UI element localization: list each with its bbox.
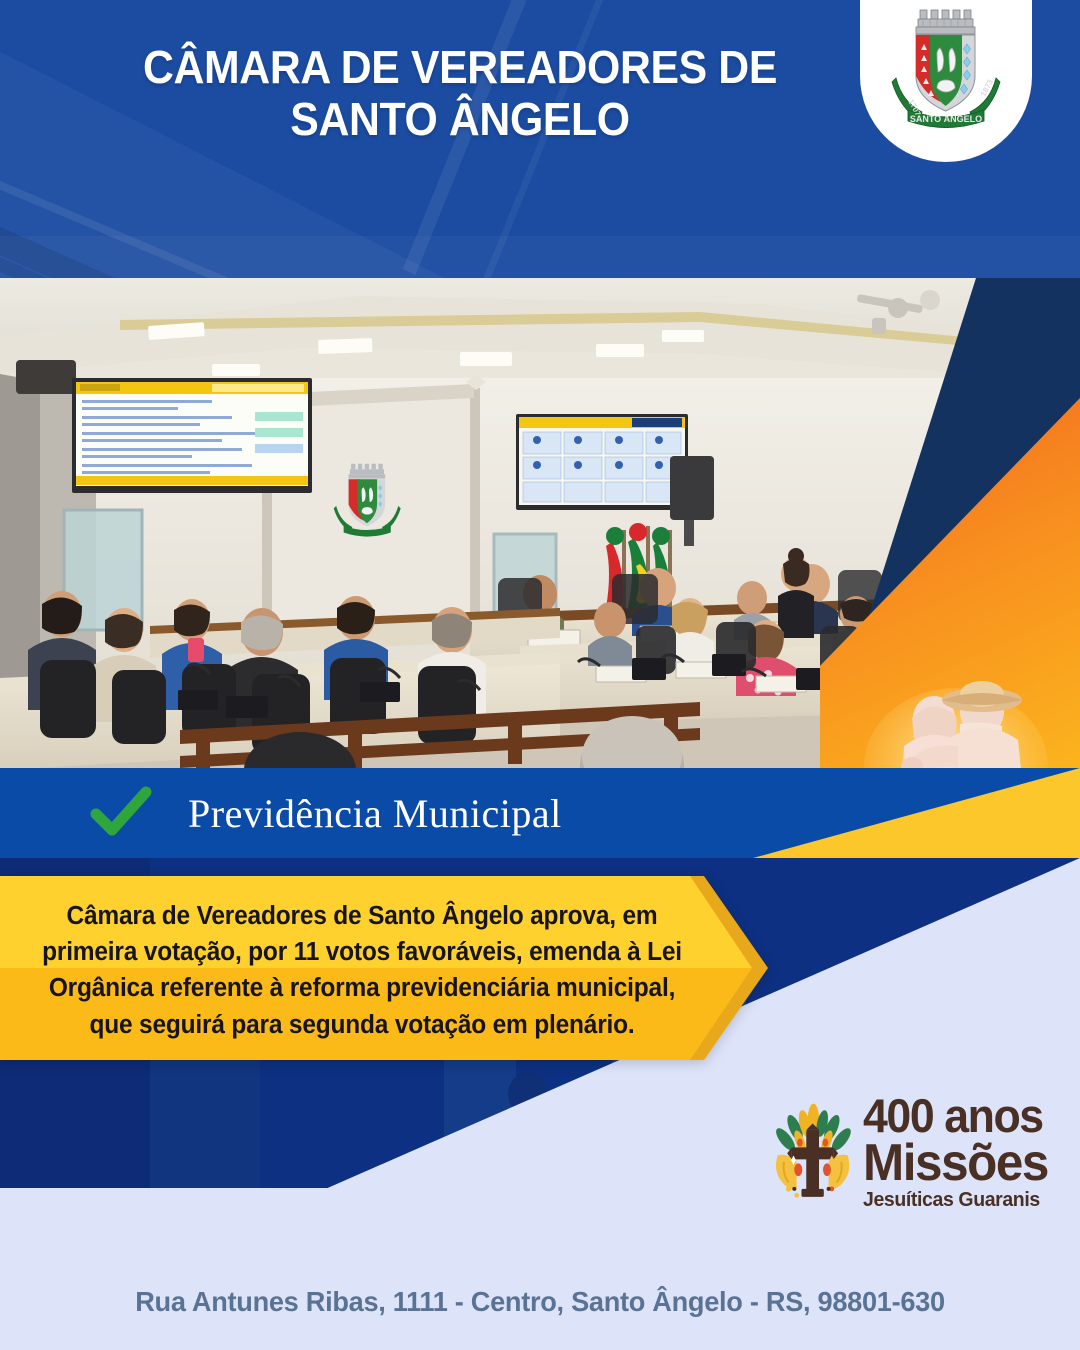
page-title-line2: SANTO ÂNGELO bbox=[116, 94, 804, 146]
crest-motto: SANTO ÂNGELO bbox=[910, 113, 982, 124]
cross-hands-missions-icon bbox=[768, 1094, 857, 1212]
poster-root: CÂMARA DE VEREADORES DE SANTO ÂNGELO bbox=[0, 0, 1080, 1350]
header-lower-band bbox=[0, 236, 1080, 278]
callout-box: Câmara de Vereadores de Santo Ângelo apr… bbox=[0, 876, 768, 1060]
santo-angelo-coat-of-arms-icon: 1707 1873 SANTO ÂNGELO bbox=[886, 4, 1006, 136]
callout-text: Câmara de Vereadores de Santo Ângelo apr… bbox=[41, 898, 682, 1043]
missoes-400-line3: Jesuíticas Guaranis bbox=[863, 1189, 1048, 1212]
missoes-400-line2: Missões bbox=[863, 1138, 1048, 1189]
missoes-400-logo: 400 anos Missões Jesuíticas Guaranis bbox=[768, 1078, 1058, 1228]
green-check-icon bbox=[88, 780, 154, 846]
footer-address: Rua Antunes Ribas, 1111 - Centro, Santo … bbox=[16, 1286, 1064, 1318]
missoes-400-text: 400 anos Missões Jesuíticas Guaranis bbox=[863, 1094, 1058, 1212]
band-title: Previdência Municipal bbox=[188, 790, 562, 837]
page-title: CÂMARA DE VEREADORES DE SANTO ÂNGELO bbox=[116, 42, 804, 146]
page-title-line1: CÂMARA DE VEREADORES DE bbox=[116, 42, 804, 94]
missoes-400-line1: 400 anos bbox=[863, 1094, 1048, 1138]
band-content: Previdência Municipal bbox=[0, 768, 760, 858]
